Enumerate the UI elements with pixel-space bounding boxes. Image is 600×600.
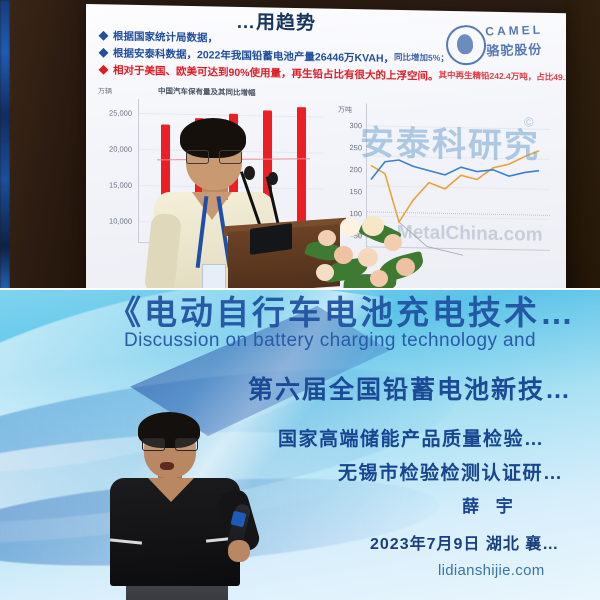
chart-y-unit: 万辆 <box>98 86 112 96</box>
banner-title-en: Discussion on battery charging technolog… <box>124 330 536 352</box>
bullet-tail: 同比增加5%； <box>394 53 449 64</box>
microphone-head <box>244 166 255 180</box>
glasses-icon <box>186 150 242 162</box>
banner-presenter-name: 薛 宇 <box>462 492 519 517</box>
flower-arrangement <box>300 212 432 290</box>
watermark-copyright: © <box>524 114 534 129</box>
y-tick: 25,000 <box>98 108 132 118</box>
bullet-tail: 其中再生精铅242.4万吨，占比49.1%； <box>439 71 566 84</box>
y-tick: 10,000 <box>98 216 132 226</box>
microphone-head <box>268 172 278 185</box>
banner-date-place: 2023年7月9日 湖北 襄… <box>370 530 559 554</box>
speaker-hand <box>228 540 250 562</box>
diamond-bullet-icon <box>99 65 109 75</box>
banner-org-line-2: 无锡市检验检测认证研… <box>338 458 564 485</box>
y-tick: 300 <box>336 121 362 130</box>
camel-logo: CAMEL 骆驼股份 <box>445 20 559 68</box>
y-tick: 20,000 <box>98 144 132 154</box>
wall-dark-right <box>564 0 600 290</box>
y-tick: 200 <box>336 165 362 174</box>
wall-blue-strip <box>0 0 10 290</box>
camel-mark-icon <box>445 25 487 66</box>
speaker-lanyard <box>200 196 226 272</box>
banner-title-cn: 《电动自行车电池充电技术… <box>108 290 576 334</box>
watermark-lidianshijie: lidianshijie.com <box>438 562 545 579</box>
slide-bullet: 相对于美国、欧美可达到90%使用量，再生铅占比有很大的上浮空间。 其中再生精铅2… <box>100 64 560 85</box>
speaker-badge <box>202 264 226 290</box>
slide-title: …用趋势 <box>236 7 316 36</box>
y-tick: 150 <box>336 187 362 196</box>
bullet-text: 根据国家统计局数据， <box>113 31 218 45</box>
bullet-text: 相对于美国、欧美可达到90%使用量，再生铅占比有很大的上浮空间。 <box>113 65 439 83</box>
bottom-photograph: 《电动自行车电池充电技术… Discussion on battery char… <box>0 290 600 600</box>
diamond-bullet-icon <box>99 31 109 41</box>
camel-brand-cn: 骆驼股份 <box>486 39 543 60</box>
banner-event-name: 第六届全国铅蓄电池新技… <box>248 370 572 406</box>
photo-composite: …用趋势 根据国家统计局数据， 根据安泰科数据，2022年我国铅蓄电池产量264… <box>0 0 600 600</box>
bullet-text: 根据安泰科数据，2022年我国铅蓄电池产量26446万KVAH， <box>113 48 394 65</box>
top-photograph: …用趋势 根据国家统计局数据， 根据安泰科数据，2022年我国铅蓄电池产量264… <box>0 0 600 290</box>
banner-org-line-1: 国家高端储能产品质量检验… <box>278 424 545 451</box>
y-tick: 250 <box>336 143 362 152</box>
chart-title: 中国汽车保有量及其同比增幅 <box>158 85 256 98</box>
speaker-mouth <box>160 462 174 470</box>
speaker-with-microphone <box>108 412 248 600</box>
camel-brand-en: CAMEL <box>485 23 543 39</box>
wall-dark-left <box>10 0 88 290</box>
watermark-anbaike: 安泰科研究 <box>360 115 540 167</box>
diamond-bullet-icon <box>99 48 109 58</box>
glasses-icon <box>142 438 198 449</box>
y-tick: 15,000 <box>98 180 132 190</box>
chart-y-unit: 万吨 <box>338 105 352 115</box>
